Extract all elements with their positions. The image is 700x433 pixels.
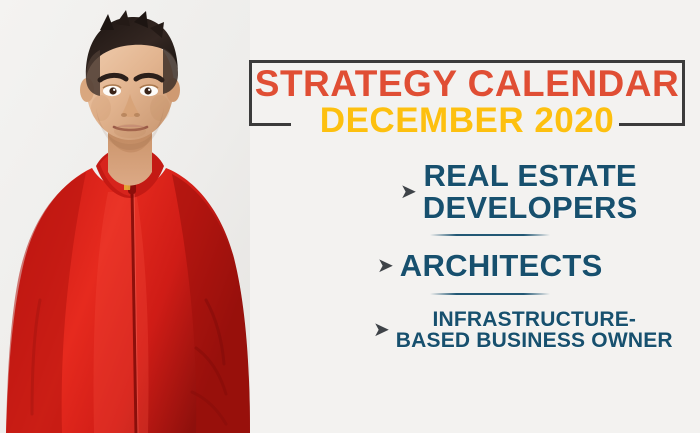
audience-divider — [430, 293, 550, 295]
audience-item-infrastructure-business-owner: ➤ INFRASTRUCTURE- BASED BUSINESS OWNER — [355, 309, 700, 352]
arrow-bullet-icon: ➤ — [373, 320, 390, 340]
presenter-photo-illustration — [0, 0, 250, 433]
presenter-photo — [0, 0, 250, 433]
audience-item-architects: ➤ ARCHITECTS — [355, 250, 700, 282]
audience-item-label: INFRASTRUCTURE- BASED BUSINESS OWNER — [396, 309, 673, 352]
audience-item-label: ARCHITECTS — [400, 250, 603, 282]
audience-item-label: REAL ESTATE DEVELOPERS — [423, 160, 638, 223]
audience-list: ➤ REAL ESTATE DEVELOPERS ➤ ARCHITECTS ➤ … — [355, 160, 700, 352]
audience-divider — [430, 234, 550, 236]
arrow-bullet-icon: ➤ — [377, 256, 394, 276]
banner-title-month: DECEMBER 2020 — [249, 99, 685, 143]
audience-item-real-estate-developers: ➤ REAL ESTATE DEVELOPERS — [355, 160, 700, 223]
title-box: STRATEGY CALENDAR DECEMBER 2020 — [249, 60, 685, 126]
arrow-bullet-icon: ➤ — [400, 182, 417, 202]
strategy-calendar-banner: STRATEGY CALENDAR DECEMBER 2020 ➤ REAL E… — [0, 0, 700, 433]
